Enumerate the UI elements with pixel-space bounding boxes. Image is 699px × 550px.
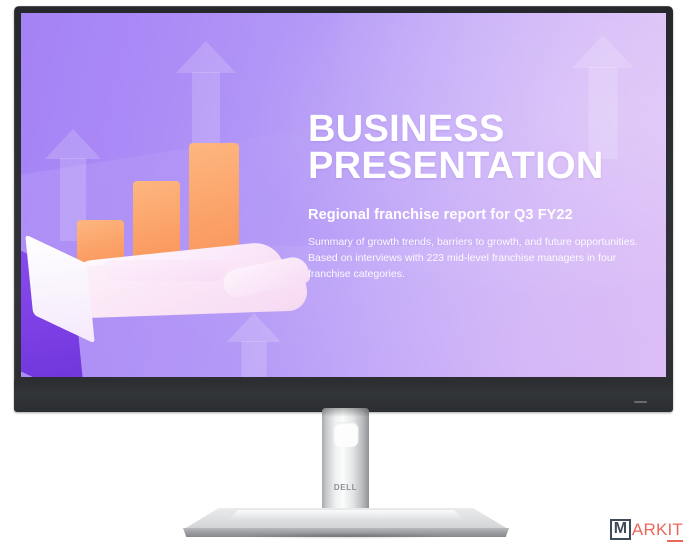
hand-finger bbox=[103, 260, 225, 281]
hand-holding-growth-bars-illustration bbox=[21, 133, 311, 377]
markit-watermark: M ARKIT bbox=[610, 518, 683, 540]
slide-title: BUSINESS PRESENTATION bbox=[308, 111, 654, 185]
watermark-text: ARKIT bbox=[632, 521, 683, 538]
slide-title-line-2: PRESENTATION bbox=[308, 145, 604, 187]
chassis-left-highlight bbox=[14, 8, 15, 410]
chassis-top-highlight bbox=[14, 6, 673, 7]
monitor-stand-neck: DELL bbox=[322, 408, 369, 514]
neck-top-shadow bbox=[322, 408, 369, 417]
slide-subtitle: Regional franchise report for Q3 FY22 bbox=[308, 207, 654, 223]
monitor-screen: BUSINESS PRESENTATION Regional franchise… bbox=[21, 13, 666, 377]
floor-shadow bbox=[196, 532, 496, 542]
dell-logo: DELL bbox=[334, 483, 357, 492]
dell-monitor: BUSINESS PRESENTATION Regional franchise… bbox=[14, 6, 673, 412]
slide-body-text: Summary of growth trends, barriers to gr… bbox=[308, 235, 638, 283]
watermark-boxed-letter: M bbox=[610, 519, 631, 540]
power-indicator-icon bbox=[634, 401, 647, 403]
slide-title-line-1: BUSINESS bbox=[308, 108, 505, 150]
cable-management-hole bbox=[333, 422, 358, 447]
watermark-text-plain: ARK bbox=[632, 520, 668, 539]
base-sheen bbox=[229, 510, 464, 520]
slide-text-block: BUSINESS PRESENTATION Regional franchise… bbox=[308, 111, 654, 283]
open-hand-graphic bbox=[21, 221, 311, 337]
product-photo-canvas: BUSINESS PRESENTATION Regional franchise… bbox=[0, 0, 699, 550]
watermark-text-underlined: IT bbox=[667, 520, 683, 542]
